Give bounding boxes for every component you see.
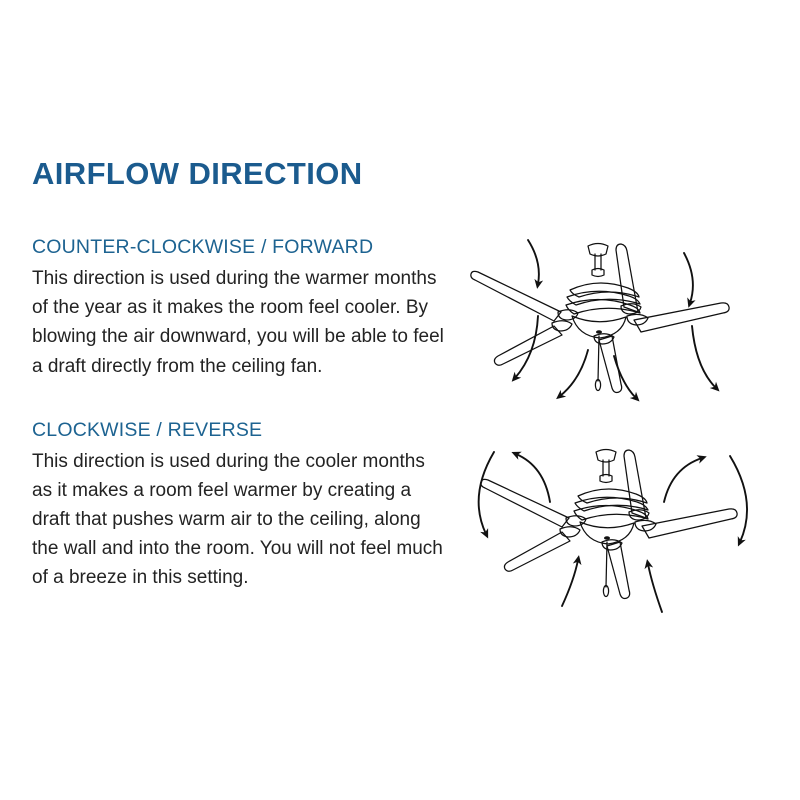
section-heading-forward: COUNTER-CLOCKWISE / FORWARD [32,234,452,260]
airflow-arrows-reverse [479,452,747,612]
section-heading-reverse: CLOCKWISE / REVERSE [32,417,452,443]
section-forward: COUNTER-CLOCKWISE / FORWARD This directi… [32,234,452,381]
fan-reverse-svg [466,430,776,630]
section-body-reverse: This direction is used during the cooler… [32,447,447,592]
airflow-direction-infographic: AIRFLOW DIRECTION COUNTER-CLOCKWISE / FO… [0,0,800,800]
text-column: COUNTER-CLOCKWISE / FORWARD This directi… [32,234,452,618]
section-reverse: CLOCKWISE / REVERSE This direction is us… [32,417,452,593]
fan-forward-svg [466,228,766,423]
illustration-fan-forward [466,228,766,423]
section-body-forward: This direction is used during the warmer… [32,264,447,380]
illustration-fan-reverse [466,430,776,630]
airflow-arrows-forward [515,240,716,398]
page-title: AIRFLOW DIRECTION [32,157,363,191]
fan-body-reverse [481,450,737,599]
